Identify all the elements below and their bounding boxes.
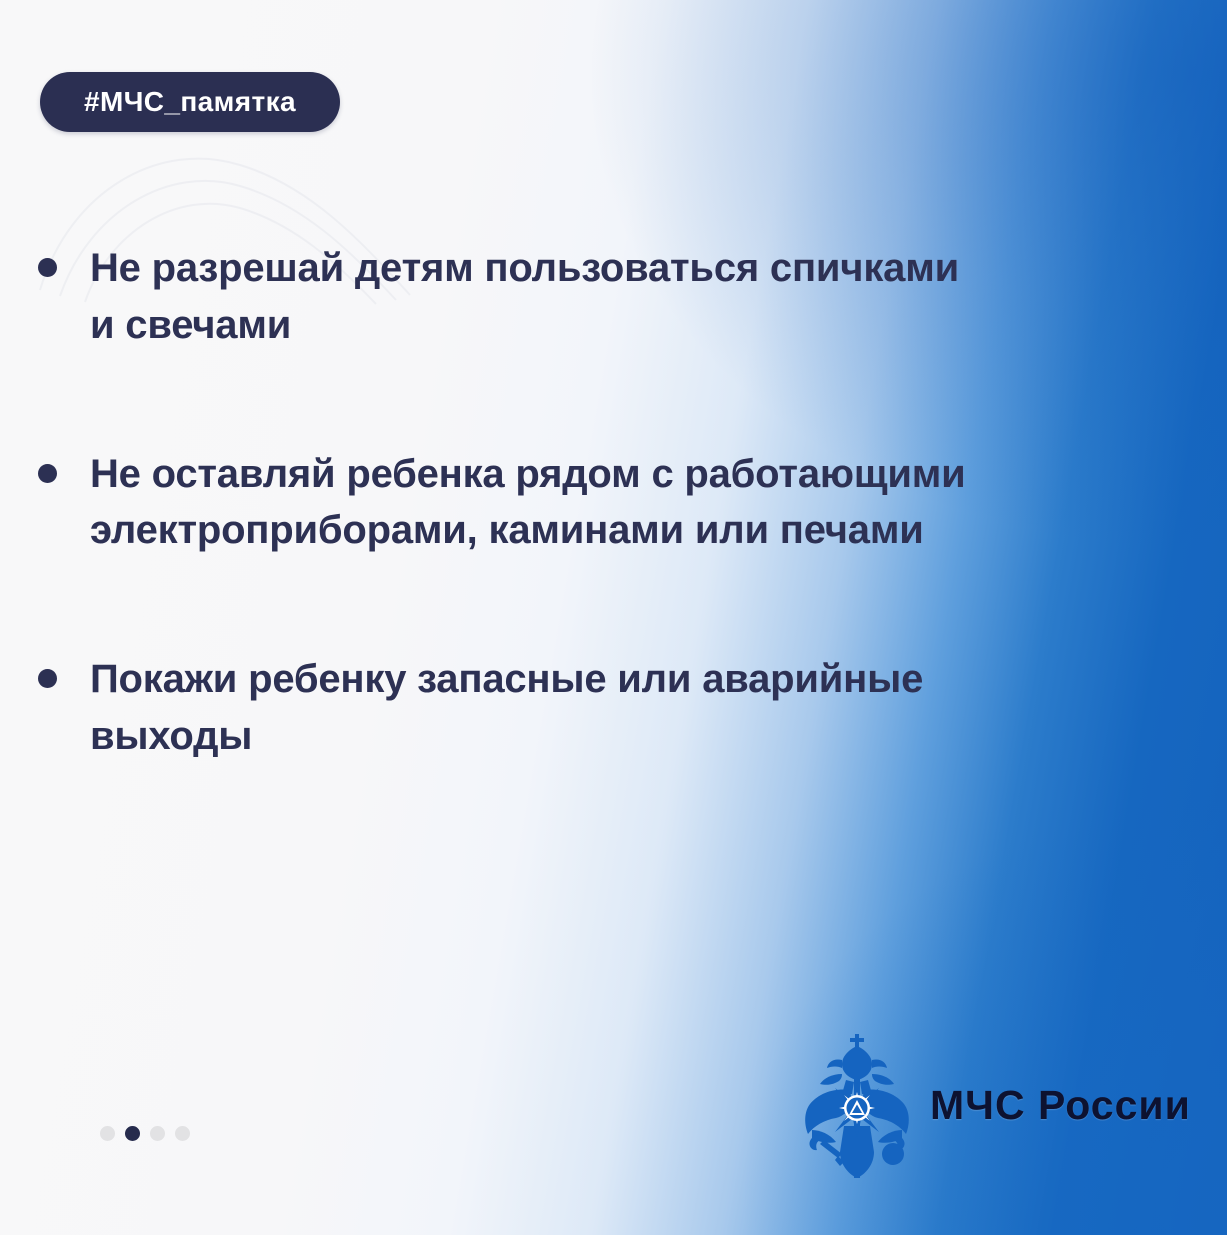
bullet-dot-icon [38, 464, 57, 483]
pagination-dot-4[interactable] [175, 1126, 190, 1141]
bullet-dot-icon [38, 258, 57, 277]
mchs-eagle-emblem-icon [798, 1030, 916, 1180]
mchs-logo-text: МЧС России [930, 1082, 1191, 1129]
list-item: Покажи ребенку запасные или аварийные вы… [38, 651, 1028, 765]
list-item: Не разрешай детям пользоваться спичками … [38, 240, 1028, 354]
mchs-safety-memo-poster: #МЧС_памятка Не разрешай детям пользоват… [0, 0, 1227, 1235]
tips-list: Не разрешай детям пользоваться спичками … [38, 240, 1028, 765]
list-item: Не оставляй ребенка рядом с работающими … [38, 446, 1028, 560]
hashtag-badge: #МЧС_памятка [40, 72, 340, 132]
pagination-dot-2-active[interactable] [125, 1126, 140, 1141]
pagination-dot-3[interactable] [150, 1126, 165, 1141]
hashtag-badge-label: #МЧС_памятка [84, 86, 296, 118]
tip-text: Не оставляй ребенка рядом с работающими … [90, 446, 990, 560]
pagination-dot-1[interactable] [100, 1126, 115, 1141]
tip-text: Покажи ребенку запасные или аварийные вы… [90, 651, 990, 765]
mchs-logo-lockup: МЧС России [798, 1030, 1191, 1180]
bullet-dot-icon [38, 669, 57, 688]
carousel-pagination[interactable] [100, 1126, 190, 1141]
tip-text: Не разрешай детям пользоваться спичками … [90, 240, 990, 354]
